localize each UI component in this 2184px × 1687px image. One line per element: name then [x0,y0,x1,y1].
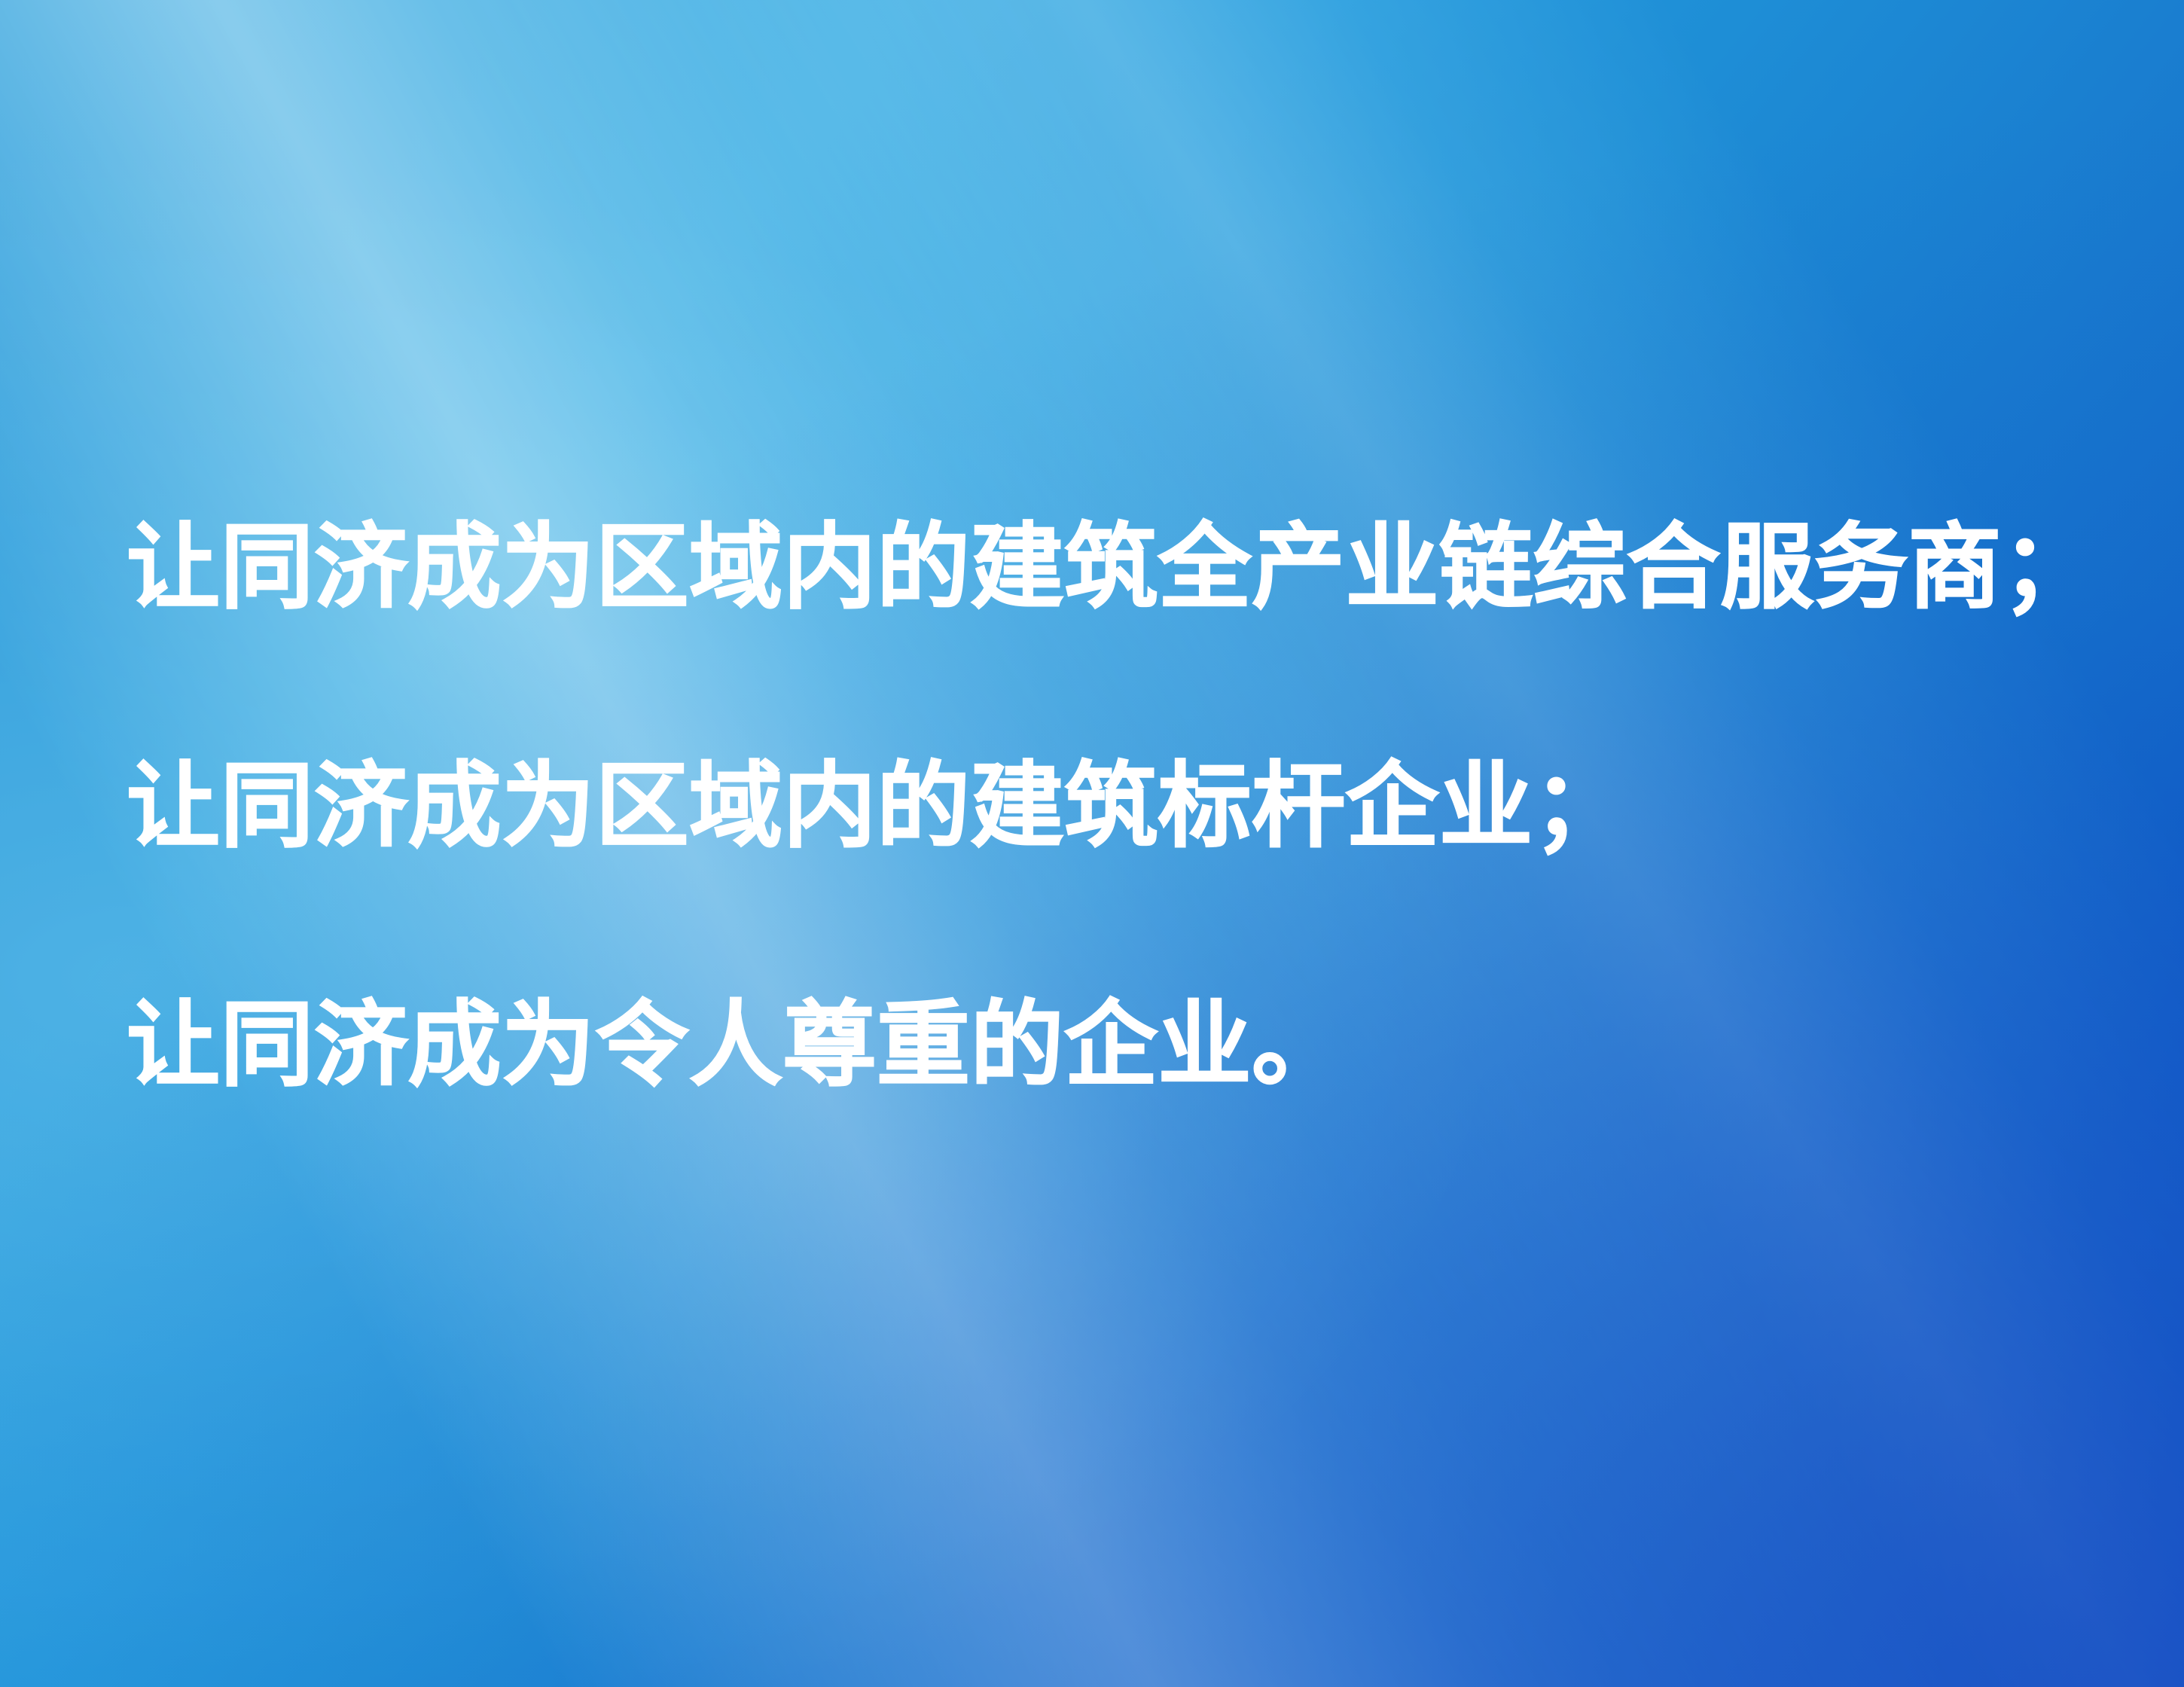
slide-text-line-1: 让同济成为区域内的建筑全产业链综合服务商； [127,449,2100,688]
slide-canvas: 让同济成为区域内的建筑全产业链综合服务商； 让同济成为区域内的建筑标杆企业； 让… [0,0,2184,1687]
slide-text-block: 让同济成为区域内的建筑全产业链综合服务商； 让同济成为区域内的建筑标杆企业； 让… [127,449,2100,1165]
slide-text-line-3: 让同济成为令人尊重的企业。 [127,926,2100,1165]
slide-text-line-2: 让同济成为区域内的建筑标杆企业； [127,688,2100,926]
